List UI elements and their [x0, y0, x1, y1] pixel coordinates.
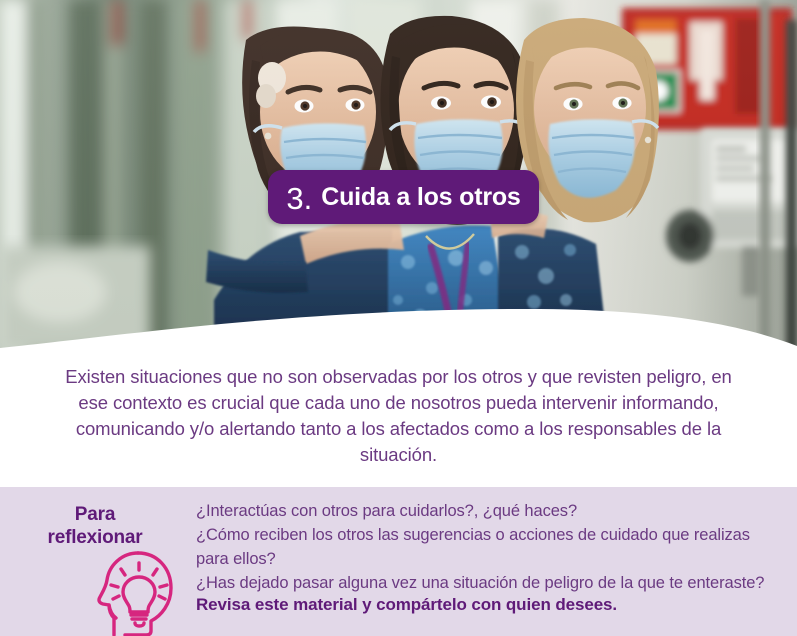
- section-title-banner: 3. Cuida a los otros: [268, 170, 539, 224]
- section-title: Cuida a los otros: [321, 185, 520, 210]
- reflection-panel-right: ¿Interactúas con otros para cuidarlos?, …: [196, 487, 797, 636]
- reflection-question: ¿Cómo reciben los otros las sugerencias …: [196, 523, 786, 571]
- head-lightbulb-icon-shape: [97, 549, 179, 636]
- reflection-questions: ¿Interactúas con otros para cuidarlos?, …: [196, 499, 786, 595]
- head-lightbulb-icon: [97, 549, 179, 636]
- section-number: 3.: [286, 183, 312, 214]
- reflection-panel-left: Para reflexionar: [0, 487, 190, 636]
- reflection-panel: Para reflexionar: [0, 487, 797, 636]
- reflection-heading-line1: Para: [75, 504, 115, 525]
- reflection-heading: Para reflexionar: [0, 503, 190, 549]
- reflection-closing-note: Revisa este material y compártelo con qu…: [196, 595, 617, 615]
- infographic-page: 3. Cuida a los otros Existen situaciones…: [0, 0, 797, 636]
- reflection-question: ¿Interactúas con otros para cuidarlos?, …: [196, 499, 786, 523]
- reflection-heading-line2: reflexionar: [48, 527, 143, 548]
- intro-paragraph: Existen situaciones que no son observada…: [60, 364, 737, 468]
- reflection-question: ¿Has dejado pasar alguna vez una situaci…: [196, 571, 786, 595]
